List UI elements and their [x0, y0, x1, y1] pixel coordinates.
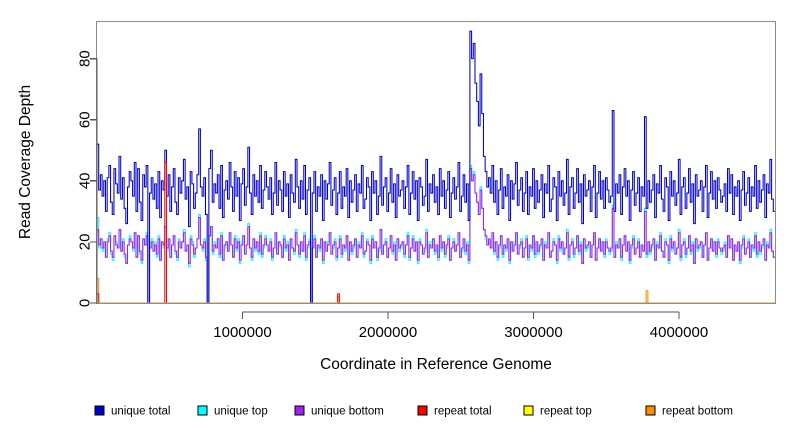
x-tick-label: 1000000	[213, 324, 271, 341]
y-axis-title: Read Coverage Depth	[17, 85, 34, 239]
legend-swatch	[524, 406, 533, 415]
legend-label: repeat bottom	[662, 405, 733, 417]
legend-label: unique bottom	[311, 405, 384, 417]
legend-swatch	[295, 406, 304, 415]
legend-swatch	[646, 406, 655, 415]
y-tick-label: 40	[76, 172, 93, 189]
legend-label: unique total	[111, 405, 170, 417]
y-tick-label: 0	[76, 299, 93, 307]
legend-label: unique top	[214, 405, 268, 417]
coverage-depth-plot: 020406080 1000000200000030000004000000 R…	[0, 0, 792, 432]
chart-figure: 020406080 1000000200000030000004000000 R…	[0, 0, 792, 432]
x-tick-label: 2000000	[359, 324, 417, 341]
y-tick-label: 80	[76, 50, 93, 67]
x-axis-title: Coordinate in Reference Genome	[320, 356, 552, 373]
y-tick-label: 60	[76, 111, 93, 128]
legend-label: repeat top	[540, 405, 592, 417]
legend-swatch	[198, 406, 207, 415]
legend-swatch	[418, 406, 427, 415]
x-tick-label: 3000000	[504, 324, 562, 341]
x-tick-label: 4000000	[650, 324, 708, 341]
y-tick-label: 20	[76, 234, 93, 251]
legend-swatch	[95, 406, 104, 415]
legend-label: repeat total	[434, 405, 492, 417]
